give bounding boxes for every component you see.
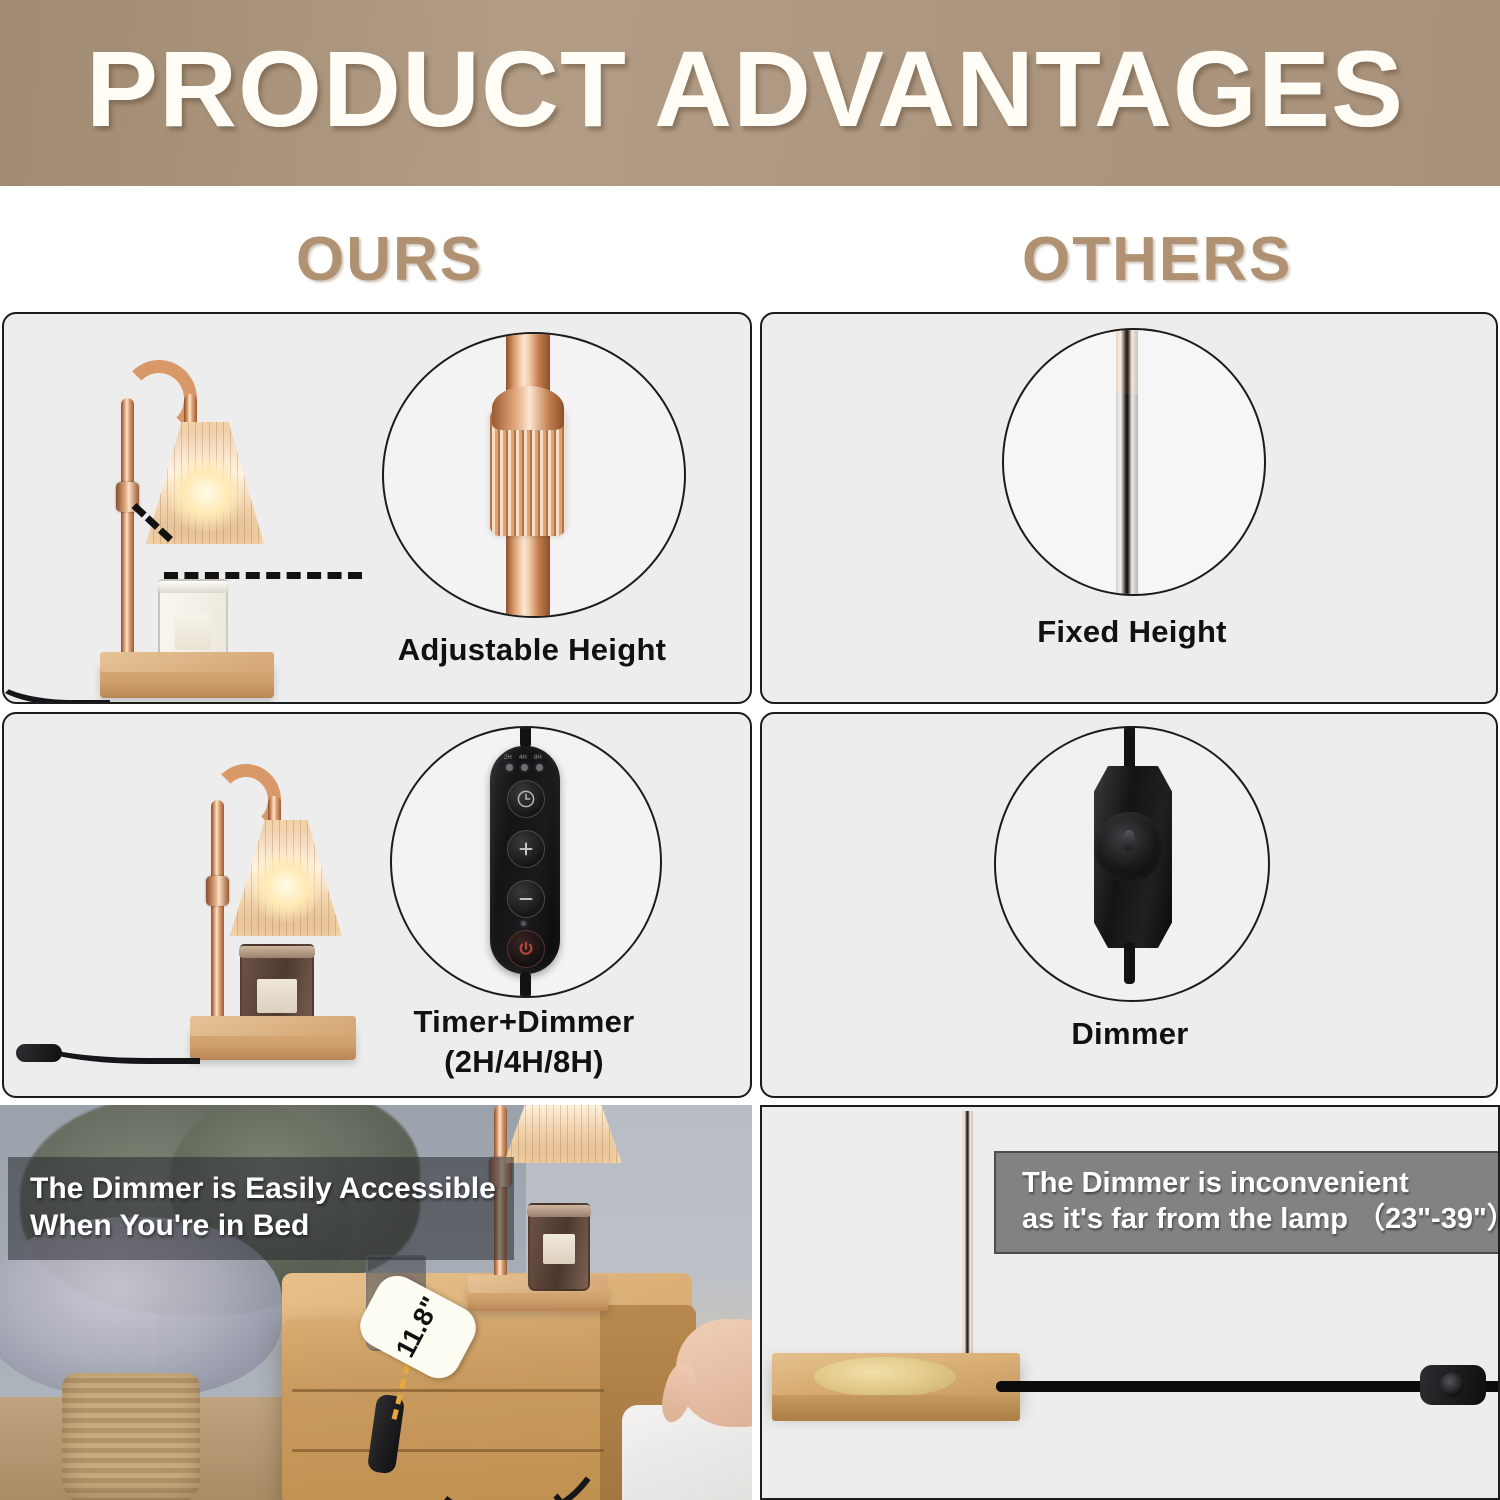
lamp-bulb-glow [170,450,242,536]
others-gold-warming-plate [814,1357,956,1397]
header-banner: PRODUCT ADVANTAGES [0,0,1500,186]
candle-jar-lip-2 [239,946,315,958]
others-dimmer-bottom-cord [1124,942,1135,984]
others-dimmer-top-cord [1124,726,1135,770]
clock-icon[interactable] [507,780,545,818]
controller-top-cord [520,726,531,748]
others-lamp-pole [962,1111,973,1383]
controller-bottom-cord [520,972,531,998]
led-power-indicator [521,921,526,926]
magnifier-adjustable-collar [382,332,686,618]
panel-others-dimmer: Dimmer [760,712,1498,1098]
caption-adjustable-height: Adjustable Height [382,632,682,668]
panel-ours-adjustable-height: Adjustable Height [2,312,752,704]
led-2h [506,764,513,771]
panel-ours-bedside-scene: 11.8" The Dimmer is Easily Accessible Wh… [0,1105,752,1500]
magnified-collar-cap [492,386,564,430]
caption-box-far-dimmer: The Dimmer is inconvenient as it's far f… [994,1151,1500,1254]
magnifier-timer-dimmer: 2H 4H 8H [390,726,662,998]
caption-far-dimmer-line2: as it's far from the lamp （23"-39"） [1022,1201,1500,1237]
product-advantages-infographic: PRODUCT ADVANTAGES OURS OTHERS [0,0,1500,1500]
pointer-dashed-line [164,572,362,579]
caption-others-dimmer: Dimmer [994,1016,1266,1052]
led-label-8h: 8H [534,755,542,761]
panel-ours-timer-dimmer: 2H 4H 8H [2,712,752,1098]
panel-others-fixed-height: Fixed Height [760,312,1498,704]
lamp-wood-base-top [100,652,274,672]
magnifier-others-dimmer [994,726,1270,1002]
led-8h [536,764,543,771]
lamp-bulb-glow-2 [252,846,320,926]
bedside-lamp-shade [504,1105,622,1163]
lamp-power-cord [2,666,110,704]
inline-dimmer-on-cord [16,1044,62,1062]
led-4h [521,764,528,771]
power-icon[interactable] [507,930,545,968]
led-label-2h: 2H [504,755,512,761]
column-heading-others: OTHERS [1022,224,1292,295]
caption-fixed-height: Fixed Height [1002,614,1262,650]
plus-icon[interactable] [507,830,545,868]
column-heading-ours: OURS [296,224,483,295]
page-title: PRODUCT ADVANTAGES [86,26,1404,151]
dimmer-rotary-knob[interactable] [1094,812,1164,882]
candle-jar-label-2 [257,979,296,1014]
caption-timer-dimmer-line1: Timer+Dimmer [378,1004,670,1040]
magnified-fixed-pole-top-tint [1116,330,1138,394]
lamp-wood-base-top-2 [190,1016,356,1036]
lamp-collar-2 [206,876,229,906]
caption-bedside-line2: When You're in Bed [30,1208,496,1245]
others-wood-base-front [772,1395,1020,1421]
others-far-dimmer-knob[interactable] [1440,1373,1464,1397]
led-label-4h: 4H [519,755,527,761]
candle-jar-label [175,614,212,649]
caption-far-dimmer-line1: The Dimmer is inconvenient [1022,1165,1500,1201]
panel-others-far-dimmer: The Dimmer is inconvenient as it's far f… [760,1105,1500,1500]
magnifier-fixed-pole [1002,328,1266,596]
timer-dimmer-controller: 2H 4H 8H [490,746,560,974]
caption-bedside-line1: The Dimmer is Easily Accessible [30,1171,496,1208]
caption-box-bedside: The Dimmer is Easily Accessible When You… [8,1157,514,1260]
bedside-shade-ribs [504,1105,622,1163]
caption-timer-dimmer-line2: (2H/4H/8H) [378,1044,670,1080]
bedside-candle-lip [527,1205,591,1217]
minus-icon[interactable] [507,880,545,918]
candle-jar-lip [157,581,229,593]
bedside-candle-label [543,1234,576,1264]
bedside-candle-jar [528,1203,590,1291]
